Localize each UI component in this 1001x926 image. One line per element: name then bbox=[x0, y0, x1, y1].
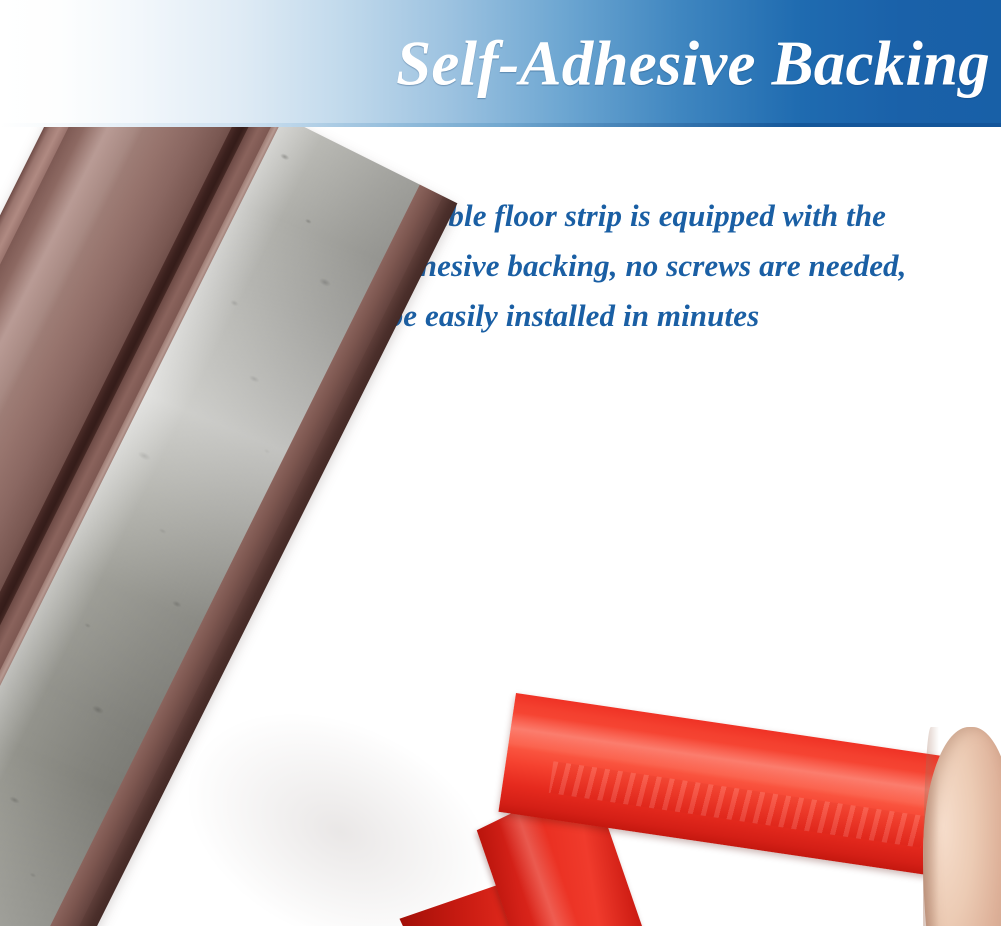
fingertip-shading bbox=[923, 727, 939, 926]
red-release-liner-tape bbox=[0, 127, 1001, 926]
header-banner: Self-Adhesive Backing bbox=[0, 0, 1001, 127]
product-photograph bbox=[0, 127, 1001, 926]
page-title: Self-Adhesive Backing bbox=[396, 32, 990, 95]
fingertip-peeling-liner bbox=[923, 727, 1001, 926]
product-feature-image: Self-Adhesive Backing The flexible floor… bbox=[0, 0, 1001, 926]
